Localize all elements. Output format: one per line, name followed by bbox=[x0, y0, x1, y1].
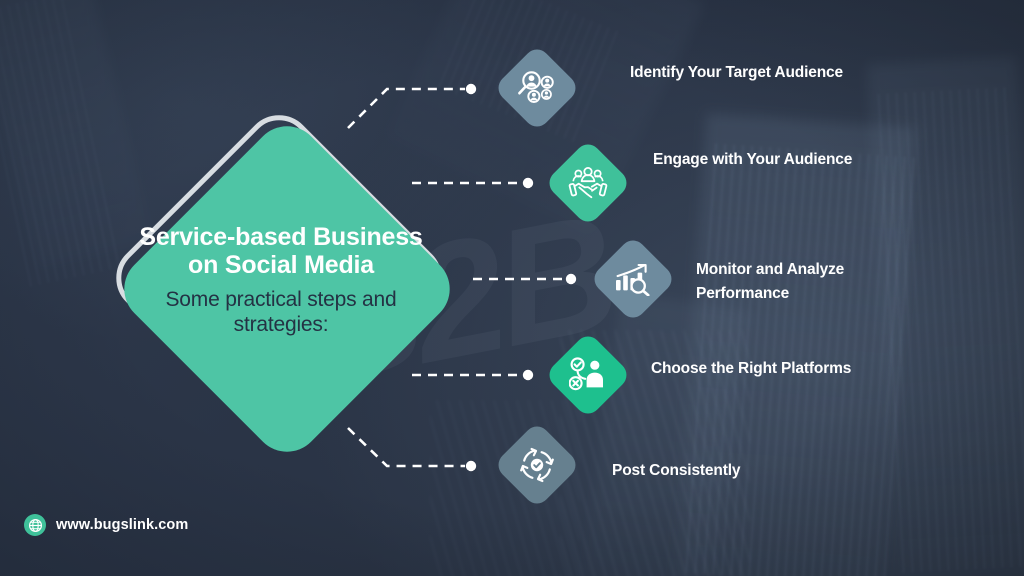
connector-dot-2 bbox=[523, 178, 533, 188]
globe-icon bbox=[24, 514, 46, 536]
connector-dot-3 bbox=[566, 274, 576, 284]
connector-line-1 bbox=[348, 89, 465, 128]
footer-url-text[interactable]: www.bugslink.com bbox=[56, 517, 188, 533]
footer[interactable]: www.bugslink.com bbox=[24, 514, 188, 536]
connector-dot-5 bbox=[466, 461, 476, 471]
connector-line-5 bbox=[348, 428, 465, 466]
hero-title: Service-based Business on Social Media bbox=[122, 223, 440, 280]
connector-dot-1 bbox=[466, 84, 476, 94]
hero-text-block: Service-based Business on Social Media S… bbox=[122, 223, 440, 338]
connector-dot-4 bbox=[523, 370, 533, 380]
hero-subtitle: Some practical steps and strategies: bbox=[122, 287, 440, 338]
